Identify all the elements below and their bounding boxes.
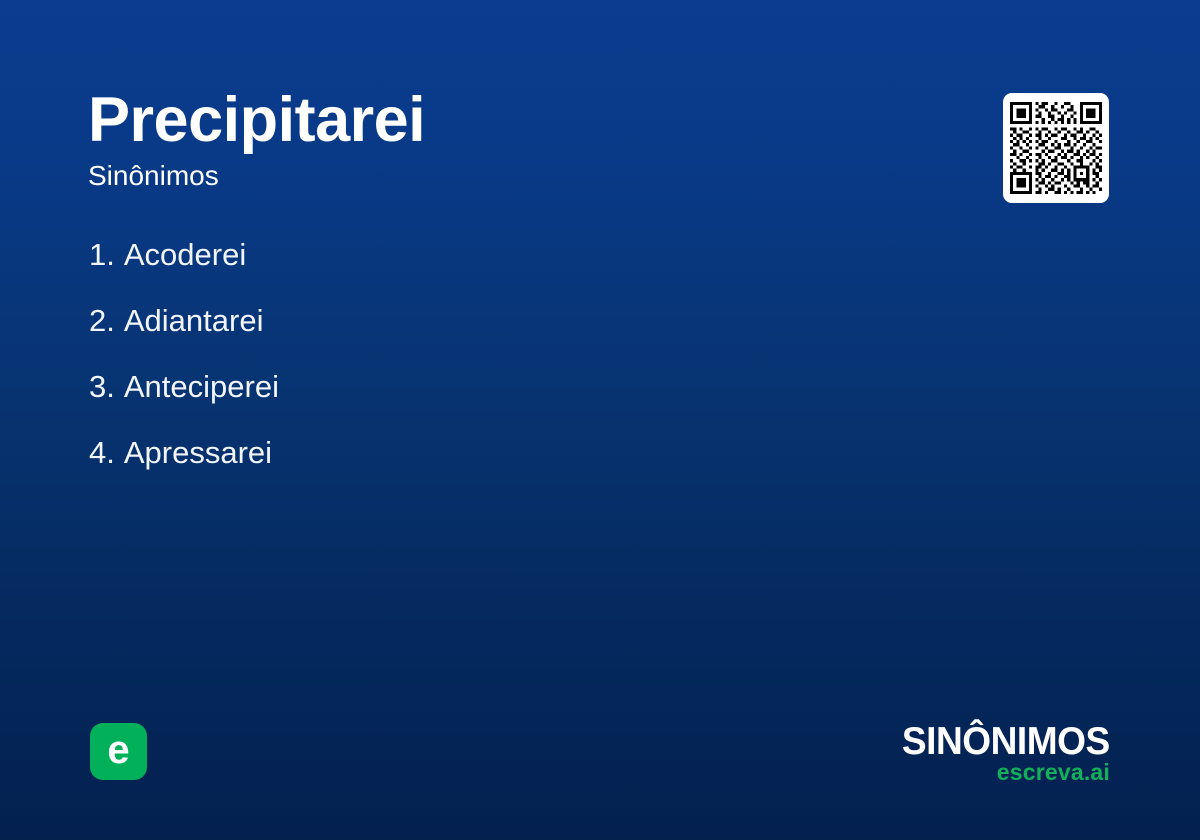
qr-code-icon[interactable] bbox=[1003, 93, 1109, 203]
list-item: 4. Apressarei bbox=[89, 433, 279, 499]
list-item-index: 1. bbox=[89, 235, 115, 275]
list-item-word: Anteciperei bbox=[124, 367, 279, 407]
list-item-word: Apressarei bbox=[124, 433, 272, 473]
list-item-index: 3. bbox=[89, 367, 115, 407]
list-item: 3. Anteciperei bbox=[89, 367, 279, 433]
list-item: 1. Acoderei bbox=[89, 235, 279, 301]
list-item-index: 2. bbox=[89, 301, 115, 341]
escreva-e-badge-icon[interactable]: e bbox=[90, 723, 147, 780]
synonyms-card: Precipitarei Sinônimos 1. Acoderei 2. Ad… bbox=[0, 0, 1200, 840]
list-item-word: Adiantarei bbox=[124, 301, 264, 341]
page-subtitle: Sinônimos bbox=[88, 156, 908, 194]
logo-wordmark: SINÔNIMOS bbox=[902, 722, 1110, 762]
list-item-index: 4. bbox=[89, 433, 115, 473]
page-title: Precipitarei bbox=[88, 84, 908, 156]
list-item: 2. Adiantarei bbox=[89, 301, 279, 367]
synonyms-list: 1. Acoderei 2. Adiantarei 3. Anteciperei… bbox=[89, 235, 279, 499]
brand-badge-letter: e bbox=[107, 730, 129, 770]
list-item-word: Acoderei bbox=[124, 235, 246, 275]
card-header: Precipitarei Sinônimos bbox=[88, 84, 908, 194]
sinonimos-logo[interactable]: SINÔNIMOS escreva.ai bbox=[891, 722, 1110, 785]
